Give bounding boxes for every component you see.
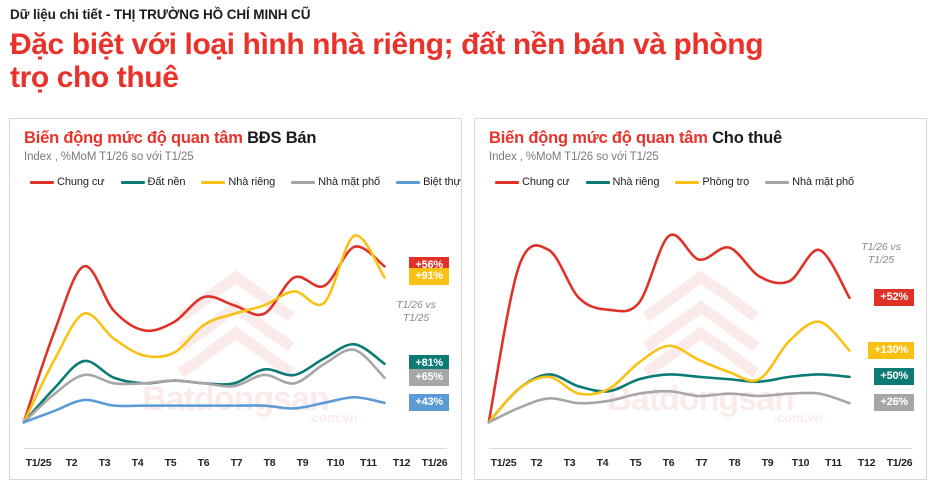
x-axis-tick: T12 bbox=[850, 457, 883, 469]
panel-title: Biến động mức độ quan tâm BĐS Bán bbox=[10, 119, 461, 148]
x-axis-tick: T9 bbox=[286, 457, 319, 469]
x-axis-line bbox=[24, 448, 447, 449]
chart-line-phòng-trọ bbox=[489, 322, 850, 423]
legend-label: Nhà mặt phố bbox=[318, 176, 380, 188]
charts-container: Biến động mức độ quan tâm BĐS Bán Index … bbox=[0, 118, 936, 480]
panel-cho-thue: Biến động mức độ quan tâm Cho thuê Index… bbox=[474, 118, 927, 480]
x-axis-tick: T1/26 bbox=[883, 457, 916, 469]
legend-item-3[interactable]: Nhà mặt phố bbox=[765, 176, 854, 188]
chart-svg bbox=[10, 203, 461, 480]
x-axis-tick: T10 bbox=[784, 457, 817, 469]
page-title: Đặc biệt với loại hình nhà riêng; đất nề… bbox=[10, 28, 800, 94]
chart-endnote: T1/26 vs T1/25 bbox=[385, 299, 447, 325]
value-badge: +65% bbox=[409, 369, 449, 386]
chart-legend: Chung cưNhà riêngPhòng trọNhà mặt phố bbox=[475, 163, 926, 188]
chart-line-biệt-thự bbox=[24, 397, 385, 422]
panel-bds-ban: Biến động mức độ quan tâm BĐS Bán Index … bbox=[9, 118, 462, 480]
legend-swatch-icon bbox=[121, 181, 145, 184]
legend-item-0[interactable]: Chung cư bbox=[495, 176, 570, 188]
legend-swatch-icon bbox=[201, 181, 225, 184]
value-badge: +50% bbox=[874, 368, 914, 385]
panel-title-accent: Biến động mức độ quan tâm bbox=[24, 129, 243, 147]
legend-label: Phòng trọ bbox=[702, 176, 749, 188]
x-axis-tick: T1/25 bbox=[22, 457, 55, 469]
legend-swatch-icon bbox=[675, 181, 699, 184]
kicker-text: Dữ liệu chi tiết - THỊ TRƯỜNG HỒ CHÍ MIN… bbox=[10, 6, 936, 24]
panel-title: Biến động mức độ quan tâm Cho thuê bbox=[475, 119, 926, 148]
value-badge: +26% bbox=[874, 394, 914, 411]
legend-swatch-icon bbox=[765, 181, 789, 184]
chart-line-nhà-mặt-phố bbox=[489, 391, 850, 422]
panel-title-plain: Cho thuê bbox=[712, 129, 782, 147]
x-axis-tick: T6 bbox=[187, 457, 220, 469]
legend-item-1[interactable]: Nhà riêng bbox=[586, 176, 660, 188]
x-axis-tick: T2 bbox=[520, 457, 553, 469]
x-axis-tick: T8 bbox=[253, 457, 286, 469]
value-badge: +130% bbox=[868, 342, 914, 359]
x-axis-tick: T3 bbox=[553, 457, 586, 469]
chart-plot-area bbox=[10, 203, 461, 480]
x-axis-tick: T9 bbox=[751, 457, 784, 469]
x-axis-tick: T2 bbox=[55, 457, 88, 469]
x-axis-tick: T7 bbox=[220, 457, 253, 469]
x-axis-tick: T4 bbox=[121, 457, 154, 469]
x-axis-tick: T6 bbox=[652, 457, 685, 469]
x-axis-tick: T7 bbox=[685, 457, 718, 469]
x-axis-tick: T8 bbox=[718, 457, 751, 469]
panel-subtitle: Index , %MoM T1/26 so với T1/25 bbox=[475, 148, 926, 163]
legend-label: Chung cư bbox=[57, 176, 105, 188]
x-axis-tick: T12 bbox=[385, 457, 418, 469]
x-axis-tick: T4 bbox=[586, 457, 619, 469]
legend-item-2[interactable]: Nhà riêng bbox=[201, 176, 275, 188]
x-axis-tick: T1/26 bbox=[418, 457, 451, 469]
legend-swatch-icon bbox=[586, 181, 610, 184]
legend-swatch-icon bbox=[396, 181, 420, 184]
x-axis-labels: T1/25T2T3T4T5T6T7T8T9T10T11T12T1/26 bbox=[475, 457, 926, 469]
value-badge: +91% bbox=[409, 268, 449, 285]
chart-line-nhà-riêng bbox=[24, 235, 385, 422]
legend-label: Biệt thự bbox=[423, 176, 461, 188]
x-axis-labels: T1/25T2T3T4T5T6T7T8T9T10T11T12T1/26 bbox=[10, 457, 461, 469]
legend-item-1[interactable]: Đất nền bbox=[121, 176, 186, 188]
x-axis-tick: T11 bbox=[352, 457, 385, 469]
legend-item-4[interactable]: Biệt thự bbox=[396, 176, 461, 188]
legend-label: Nhà mặt phố bbox=[792, 176, 854, 188]
legend-label: Chung cư bbox=[522, 176, 570, 188]
x-axis-tick: T5 bbox=[154, 457, 187, 469]
panel-title-accent: Biến động mức độ quan tâm bbox=[489, 129, 708, 147]
panel-title-plain: BĐS Bán bbox=[247, 129, 316, 147]
legend-item-2[interactable]: Phòng trọ bbox=[675, 176, 749, 188]
value-badge: +52% bbox=[874, 289, 914, 306]
chart-line-chung-cư bbox=[24, 246, 385, 422]
x-axis-line bbox=[489, 448, 912, 449]
legend-label: Nhà riêng bbox=[613, 176, 660, 188]
x-axis-tick: T5 bbox=[619, 457, 652, 469]
x-axis-tick: T10 bbox=[319, 457, 352, 469]
legend-item-0[interactable]: Chung cư bbox=[30, 176, 105, 188]
x-axis-tick: T3 bbox=[88, 457, 121, 469]
panel-subtitle: Index , %MoM T1/26 so với T1/25 bbox=[10, 148, 461, 163]
chart-legend: Chung cưĐất nềnNhà riêngNhà mặt phốBiệt … bbox=[10, 163, 461, 188]
chart-line-nhà-mặt-phố bbox=[24, 350, 385, 423]
legend-swatch-icon bbox=[495, 181, 519, 184]
legend-item-3[interactable]: Nhà mặt phố bbox=[291, 176, 380, 188]
page-header: Dữ liệu chi tiết - THỊ TRƯỜNG HỒ CHÍ MIN… bbox=[0, 0, 936, 94]
value-badge: +43% bbox=[409, 394, 449, 411]
legend-swatch-icon bbox=[291, 181, 315, 184]
legend-label: Nhà riêng bbox=[228, 176, 275, 188]
x-axis-tick: T1/25 bbox=[487, 457, 520, 469]
chart-endnote: T1/26 vs T1/25 bbox=[850, 241, 912, 267]
legend-swatch-icon bbox=[30, 181, 54, 184]
legend-label: Đất nền bbox=[148, 176, 186, 188]
x-axis-tick: T11 bbox=[817, 457, 850, 469]
